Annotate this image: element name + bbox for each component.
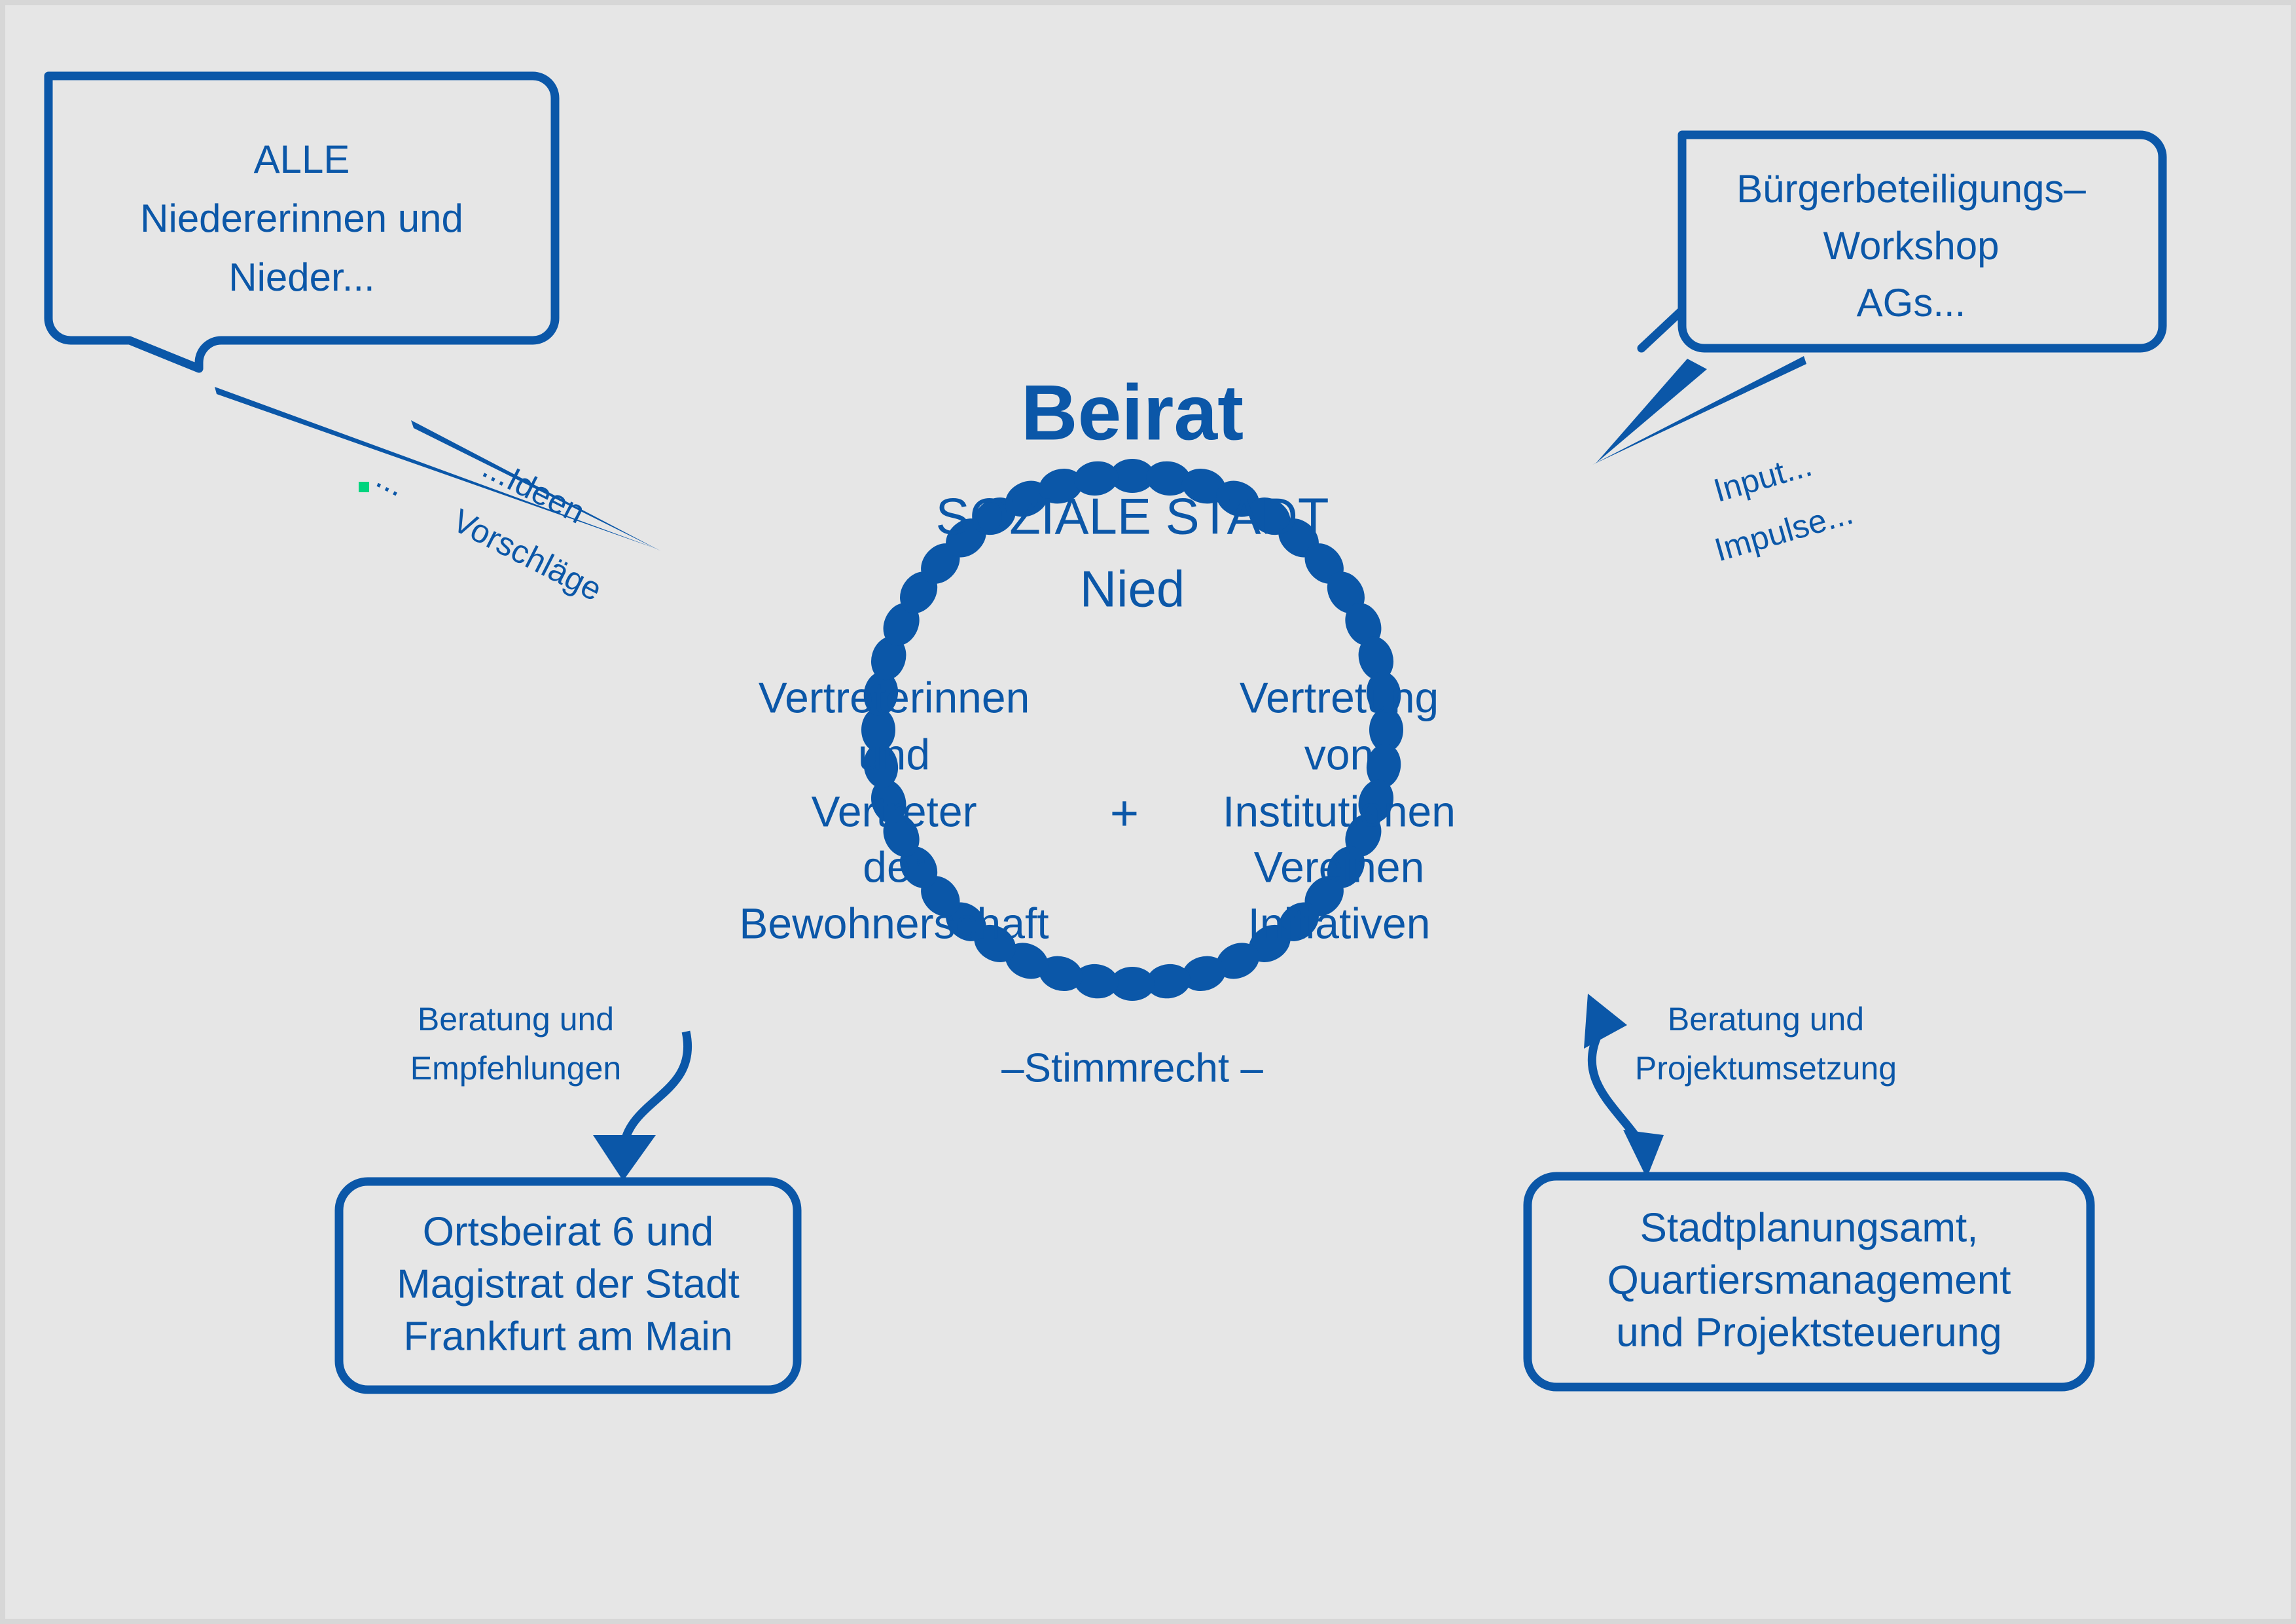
left-arrow-curve <box>624 1032 688 1143</box>
center-footnote-stimmrecht: –Stimmrecht – <box>1001 1045 1263 1091</box>
box-bottom-right-line-3: und Projektsteuerung <box>1616 1310 2001 1355</box>
right-arrow-head-up <box>1584 994 1627 1049</box>
center-left-col-line-3: Vertreter <box>811 787 977 835</box>
bubble-top-right[interactable]: Bürgerbeteiligungs– Workshop AGs... <box>1592 135 2162 465</box>
bubble-top-right-pointer <box>1596 359 1707 463</box>
right-arrow-curve <box>1592 1026 1641 1144</box>
annotation-vorschlaege: Vorschläge <box>447 502 608 608</box>
box-bottom-left-line-1: Ortsbeirat 6 und <box>423 1209 714 1254</box>
annotation-input: Input... <box>1710 446 1816 509</box>
bubble-top-left-pointer <box>215 387 660 550</box>
right-arrow-head-down <box>1623 1130 1664 1178</box>
box-bottom-right[interactable]: Stadtplanungsamt, Quartiersmanagement un… <box>1528 1176 2090 1387</box>
center-right-col-line-3: Institutionen <box>1223 787 1456 835</box>
bubble-top-right-line-2: Workshop <box>1823 224 1999 268</box>
center-left-col-line-5: Bewohnerschaft <box>739 899 1049 947</box>
center-subtitle-1: SOZIALE STADT <box>936 488 1329 545</box>
left-advisory-arrow-group: Beratung und Empfehlungen <box>410 1001 688 1181</box>
bubble-top-left[interactable]: ALLE Niedererinnen und Nieder... <box>48 76 661 551</box>
box-bottom-right-line-1: Stadtplanungsamt, <box>1640 1205 1978 1250</box>
bubble-top-left-line-1: ALLE <box>254 137 350 181</box>
right-advisory-arrow-group: Beratung und Projektumsetzung <box>1584 994 1897 1178</box>
center-right-col-line-4: Vereinen <box>1254 842 1425 891</box>
box-bottom-left-line-2: Magistrat der Stadt <box>397 1261 740 1307</box>
center-title: Beirat <box>1021 369 1244 457</box>
center-right-col-line-5: Initiativen <box>1248 899 1431 947</box>
center-left-col-line-4: der <box>863 842 925 891</box>
center-left-col-line-1: Vertreterinnen <box>759 673 1030 721</box>
box-bottom-right-line-2: Quartiersmanagement <box>1607 1257 2011 1303</box>
center-left-col-line-2: und <box>858 730 930 778</box>
box-bottom-left[interactable]: Ortsbeirat 6 und Magistrat der Stadt Fra… <box>339 1182 797 1390</box>
diagram-svg: ALLE Niedererinnen und Nieder... Bürgerb… <box>5 5 2291 1619</box>
center-right-col-line-2: von <box>1304 730 1374 778</box>
annotation-input-group: Input... Impulse... <box>1710 446 1857 569</box>
bubble-top-left-line-2: Niedererinnen und <box>140 196 463 240</box>
bubble-top-right-line-3: AGs... <box>1857 281 1966 325</box>
bubble-top-right-line-1: Bürgerbeteiligungs– <box>1736 167 2086 211</box>
box-bottom-left-line-3: Frankfurt am Main <box>403 1314 732 1359</box>
annotation-vorschlaege-dots: ... <box>370 458 412 503</box>
annotation-beratung-right-1: Beratung und <box>1668 1001 1864 1038</box>
green-square-marker <box>359 482 369 492</box>
center-subtitle-2: Nied <box>1080 560 1185 618</box>
annotation-beratung-left-1: Beratung und <box>418 1001 614 1038</box>
annotation-beratung-right-2: Projektumsetzung <box>1635 1050 1897 1087</box>
center-plus-operator: + <box>1110 785 1139 841</box>
annotation-ideen-group: ...Ideen Vorschläge ... <box>359 448 608 608</box>
annotation-beratung-left-2: Empfehlungen <box>410 1050 621 1087</box>
center-right-col-line-1: Vertretung <box>1240 673 1439 721</box>
bubble-top-left-line-3: Nieder... <box>228 255 374 299</box>
left-arrow-head <box>593 1135 656 1181</box>
diagram-canvas: ALLE Niedererinnen und Nieder... Bürgerb… <box>5 5 2291 1619</box>
